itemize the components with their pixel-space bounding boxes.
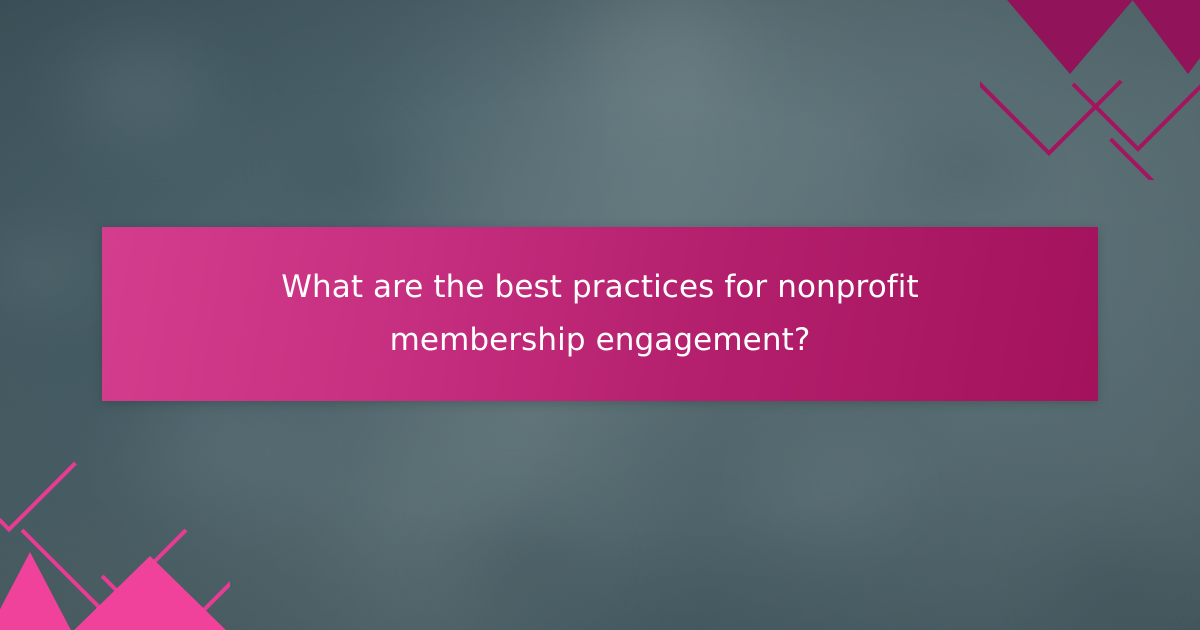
question-text: What are the best practices for nonprofi… (240, 261, 960, 368)
share-card-canvas: What are the best practices for nonprofi… (0, 0, 1200, 630)
question-banner: What are the best practices for nonprofi… (102, 227, 1098, 401)
